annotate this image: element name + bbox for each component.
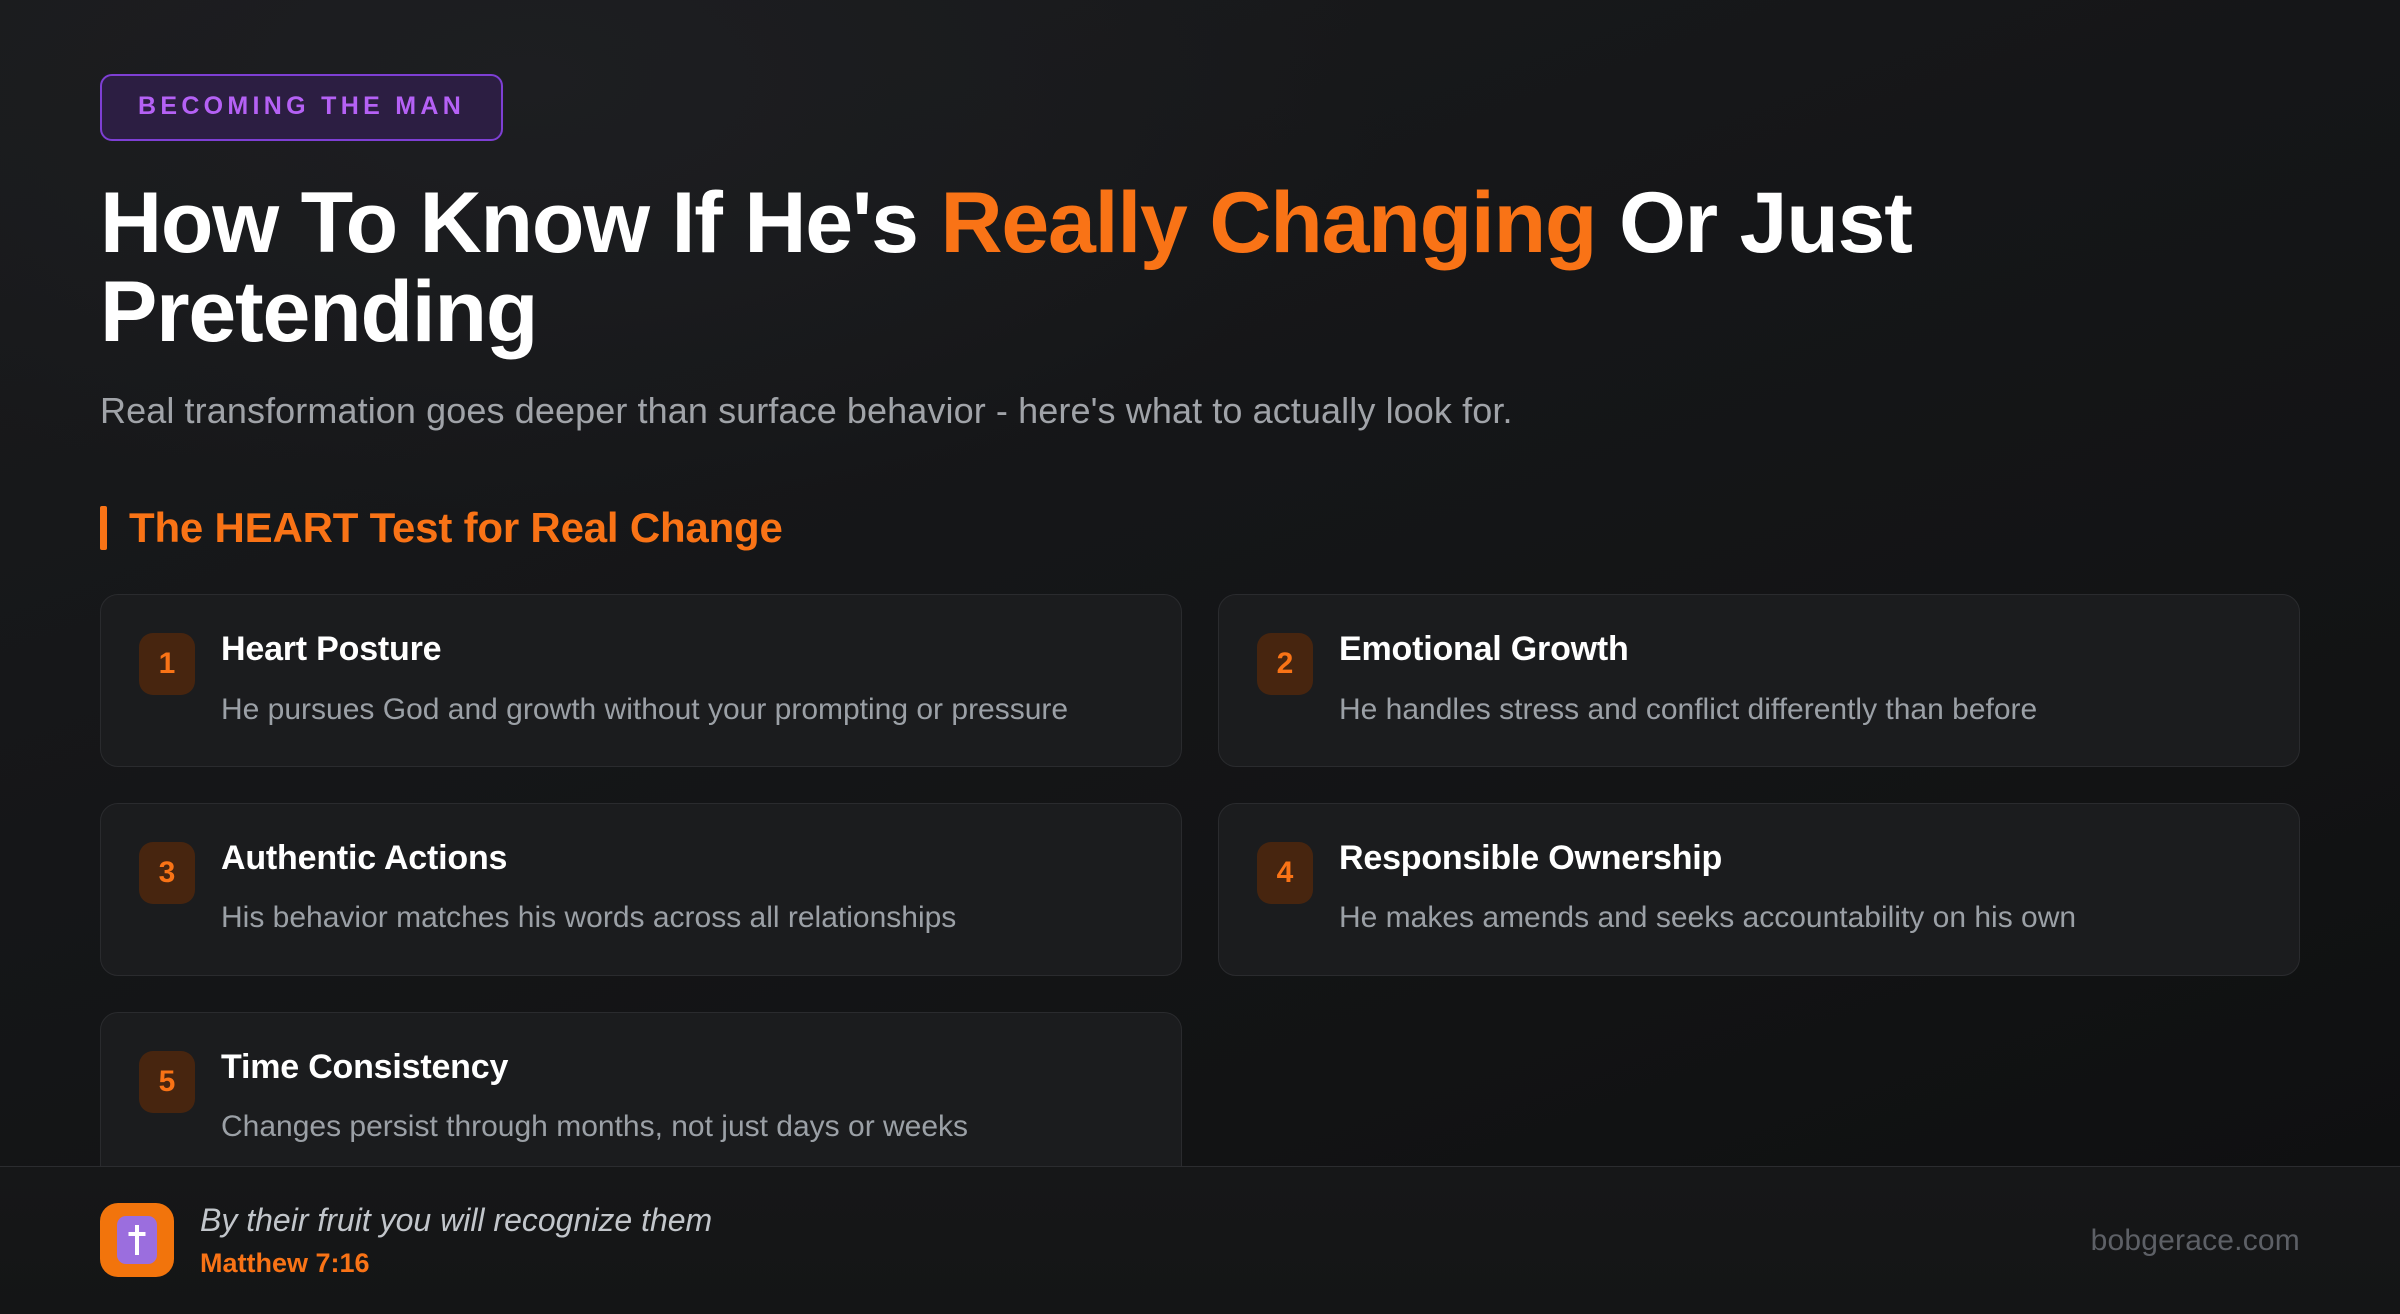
cross-icon-inner [117, 1216, 157, 1264]
list-item-title: Emotional Growth [1339, 631, 2037, 668]
list-item-title: Heart Posture [221, 631, 1068, 668]
scripture-text-group: By their fruit you will recognize them M… [200, 1202, 712, 1280]
page-subtitle: Real transformation goes deeper than sur… [100, 390, 2300, 432]
list-item: 3 Authentic Actions His behavior matches… [100, 803, 1182, 976]
list-item-description: Changes persist through months, not just… [221, 1108, 968, 1146]
page-title: How To Know If He's Really Changing Or J… [100, 179, 2160, 356]
slide-root: BECOMING THE MAN How To Know If He's Rea… [0, 0, 2400, 1314]
cross-icon [100, 1203, 174, 1277]
list-item-description: He makes amends and seeks accountability… [1339, 899, 2076, 937]
category-badge: BECOMING THE MAN [100, 74, 503, 141]
site-attribution: bobgerace.com [2091, 1224, 2300, 1258]
section-title: The HEART Test for Real Change [129, 504, 783, 552]
headline-highlight: Really Changing [941, 175, 1597, 271]
list-item-description: His behavior matches his words across al… [221, 899, 956, 937]
list-item-title: Time Consistency [221, 1049, 968, 1086]
item-number-badge: 1 [139, 633, 195, 695]
list-item-body: Responsible Ownership He makes amends an… [1339, 838, 2076, 937]
scripture-block: By their fruit you will recognize them M… [100, 1202, 712, 1280]
section-heading: The HEART Test for Real Change [100, 504, 2300, 552]
slide-content: BECOMING THE MAN How To Know If He's Rea… [0, 0, 2400, 1185]
headline-part-1: How To Know If He's [100, 175, 941, 271]
heart-test-card-grid: 1 Heart Posture He pursues God and growt… [100, 594, 2300, 1185]
item-number-badge: 3 [139, 842, 195, 904]
footer-bar: By their fruit you will recognize them M… [0, 1166, 2400, 1314]
list-item: 1 Heart Posture He pursues God and growt… [100, 594, 1182, 767]
list-item-body: Emotional Growth He handles stress and c… [1339, 629, 2037, 728]
list-item-description: He pursues God and growth without your p… [221, 691, 1068, 729]
list-item-body: Heart Posture He pursues God and growth … [221, 629, 1068, 728]
item-number-badge: 2 [1257, 633, 1313, 695]
list-item-body: Authentic Actions His behavior matches h… [221, 838, 956, 937]
item-number-badge: 5 [139, 1051, 195, 1113]
list-item-title: Responsible Ownership [1339, 840, 2076, 877]
list-item-description: He handles stress and conflict different… [1339, 691, 2037, 729]
list-item: 2 Emotional Growth He handles stress and… [1218, 594, 2300, 767]
item-number-badge: 4 [1257, 842, 1313, 904]
list-item-title: Authentic Actions [221, 840, 956, 877]
scripture-quote: By their fruit you will recognize them [200, 1202, 712, 1239]
list-item-body: Time Consistency Changes persist through… [221, 1047, 968, 1146]
list-item: 5 Time Consistency Changes persist throu… [100, 1012, 1182, 1185]
accent-bar-icon [100, 506, 107, 550]
list-item: 4 Responsible Ownership He makes amends … [1218, 803, 2300, 976]
scripture-reference: Matthew 7:16 [200, 1248, 712, 1279]
